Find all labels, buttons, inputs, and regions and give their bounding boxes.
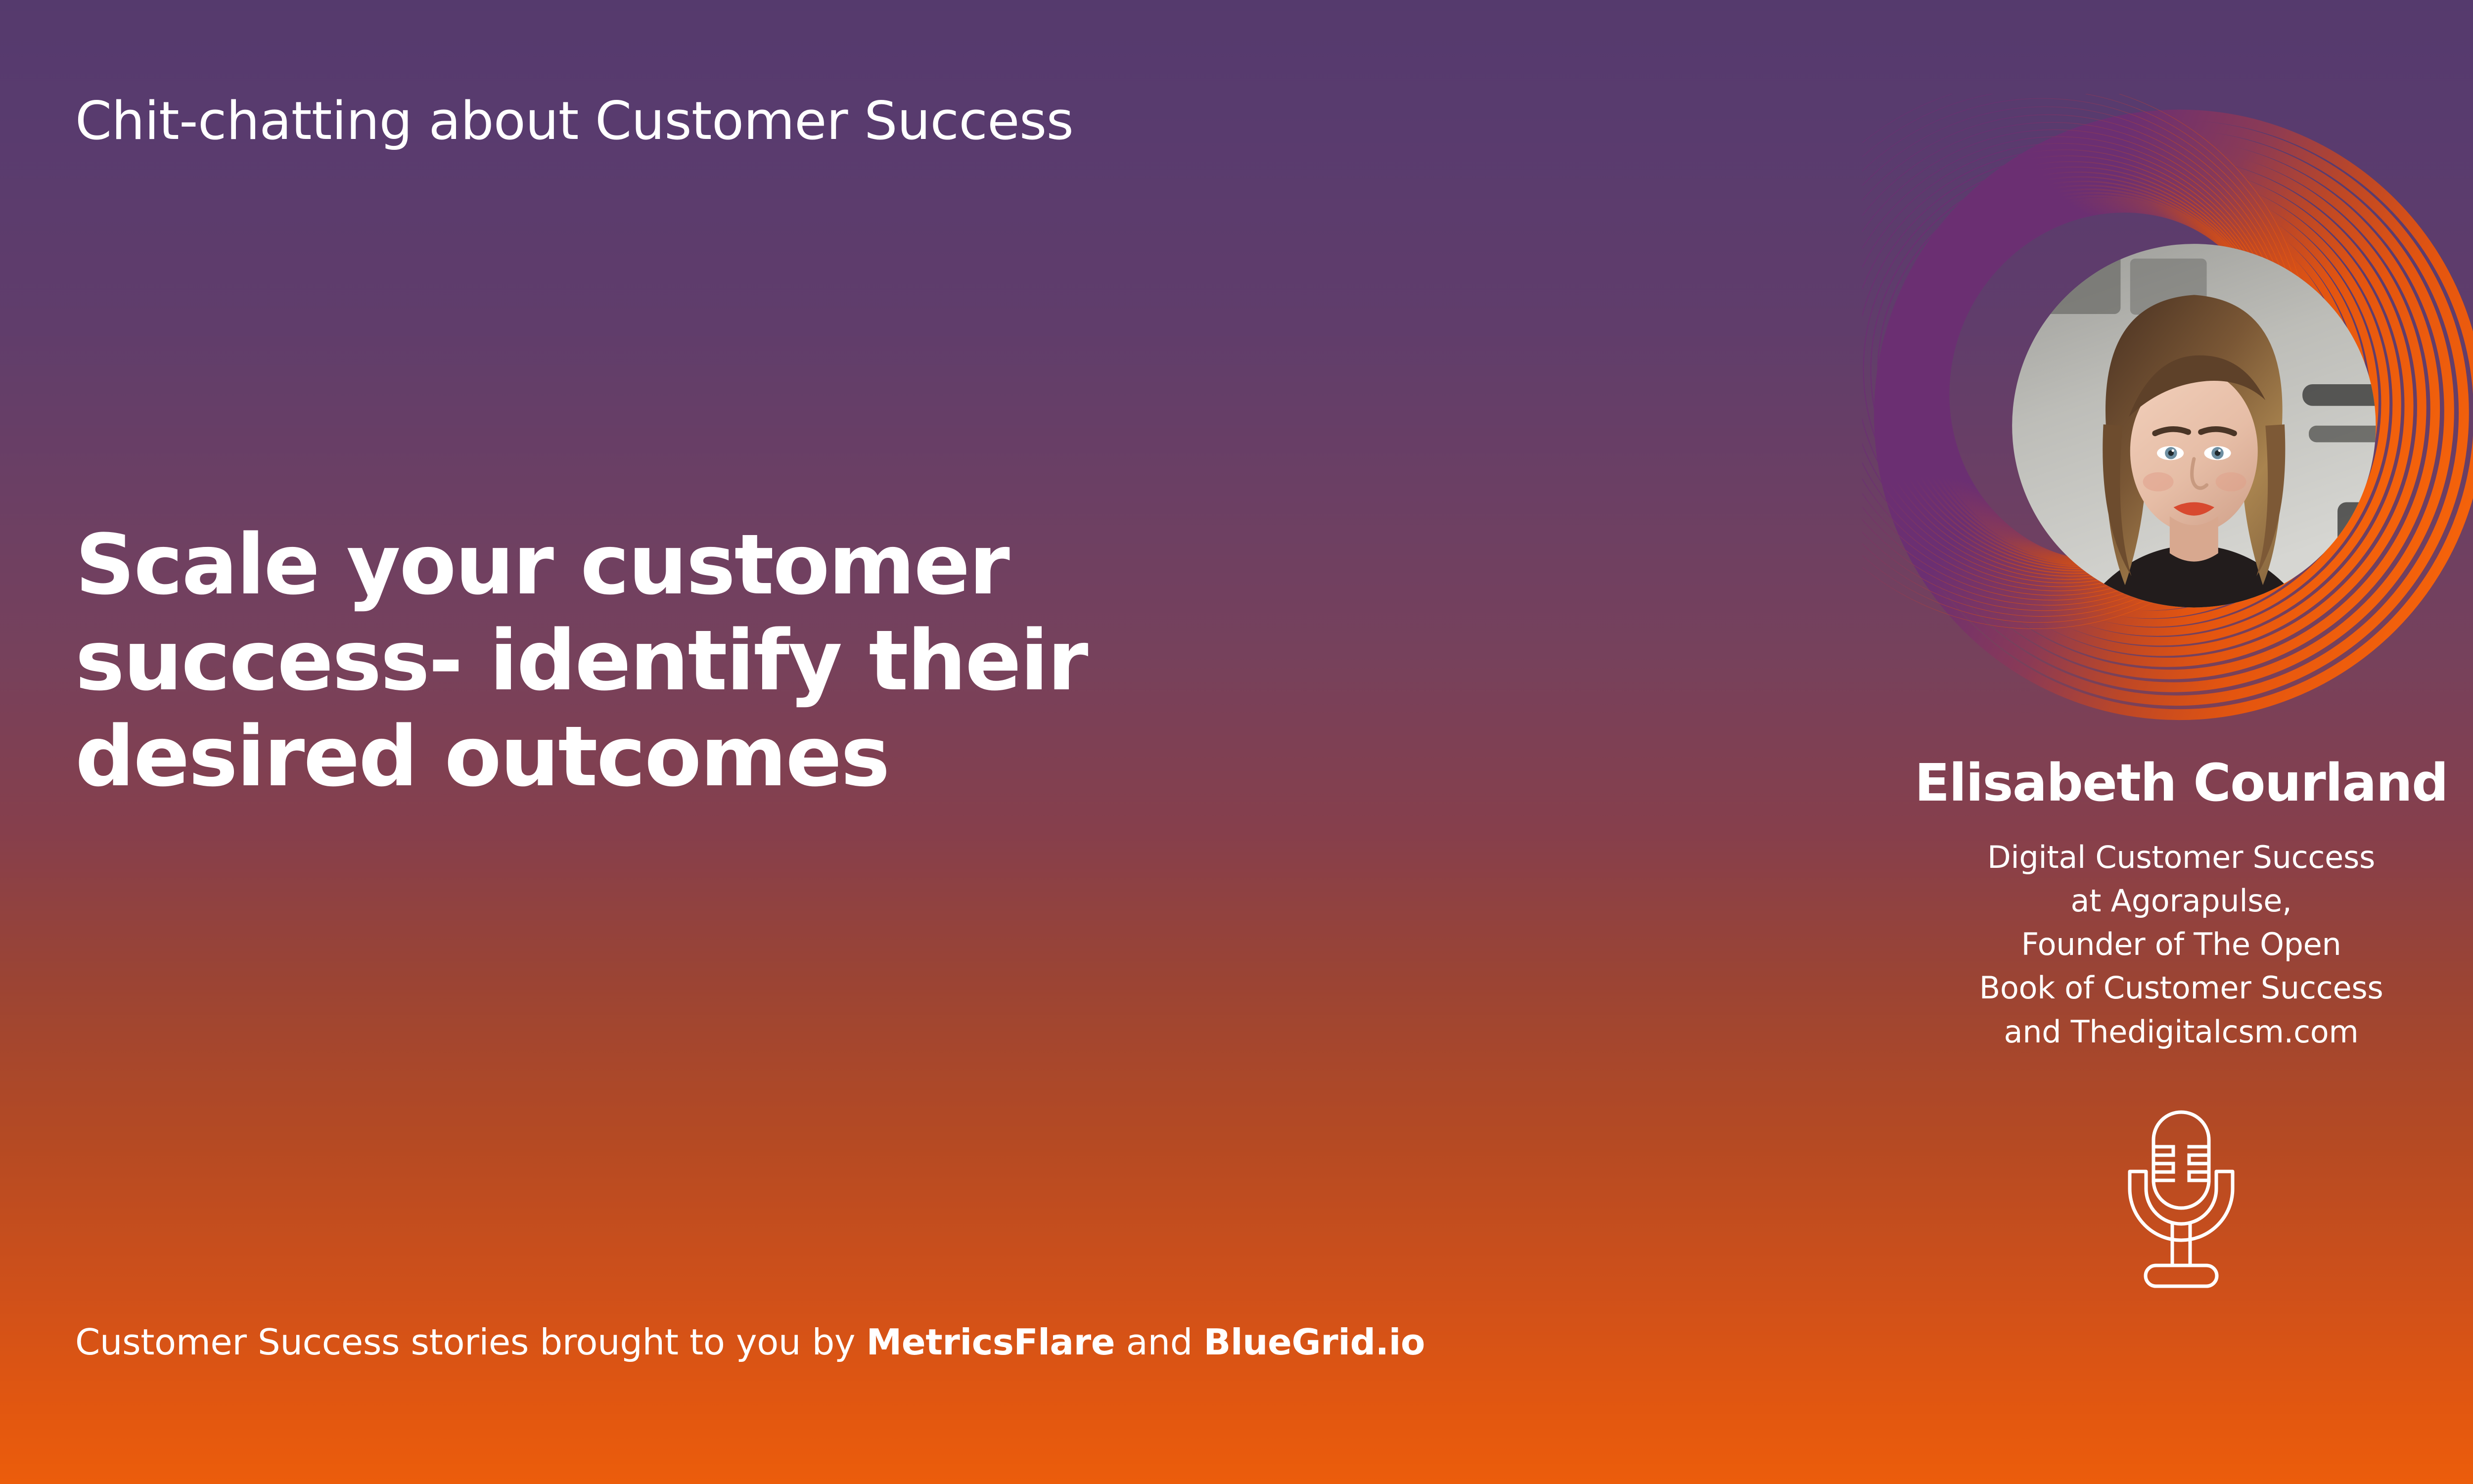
microphone-icon-wrapper bbox=[1761, 1092, 2473, 1290]
brand-metricsflare: MetricsFlare bbox=[867, 1321, 1115, 1363]
page-title: Scale your customer success- identify th… bbox=[75, 517, 1554, 805]
speaker-name: Elisabeth Courland bbox=[1761, 755, 2473, 811]
brand-bluegrid: BlueGrid.io bbox=[1204, 1321, 1425, 1363]
headline-line-2: success- identify their bbox=[75, 613, 1554, 709]
bio-line-4: Book of Customer Success bbox=[1761, 966, 2473, 1010]
speaker-bio: Digital Customer Success at Agorapulse, … bbox=[1761, 836, 2473, 1053]
microphone-icon bbox=[2114, 1092, 2248, 1290]
portrait-ring-frame bbox=[1862, 94, 2473, 732]
footer-conjunction: and bbox=[1115, 1321, 1203, 1363]
bio-line-5: and Thedigitalcsm.com bbox=[1761, 1010, 2473, 1054]
footer-credit: Customer Success stories brought to you … bbox=[75, 1321, 1425, 1363]
bio-line-3: Founder of The Open bbox=[1761, 923, 2473, 966]
webinar-promo-slide: Chit-chatting about Customer Success Sca… bbox=[0, 0, 2473, 1484]
footer-prefix: Customer Success stories brought to you … bbox=[75, 1321, 867, 1363]
show-kicker: Chit-chatting about Customer Success bbox=[75, 91, 1559, 151]
headline-line-1: Scale your customer bbox=[75, 517, 1554, 613]
bio-line-2: at Agorapulse, bbox=[1761, 879, 2473, 923]
bio-line-1: Digital Customer Success bbox=[1761, 836, 2473, 879]
speaker-panel: Elisabeth Courland Digital Customer Succ… bbox=[1761, 94, 2473, 1290]
headline-line-3: desired outcomes bbox=[75, 709, 1554, 805]
